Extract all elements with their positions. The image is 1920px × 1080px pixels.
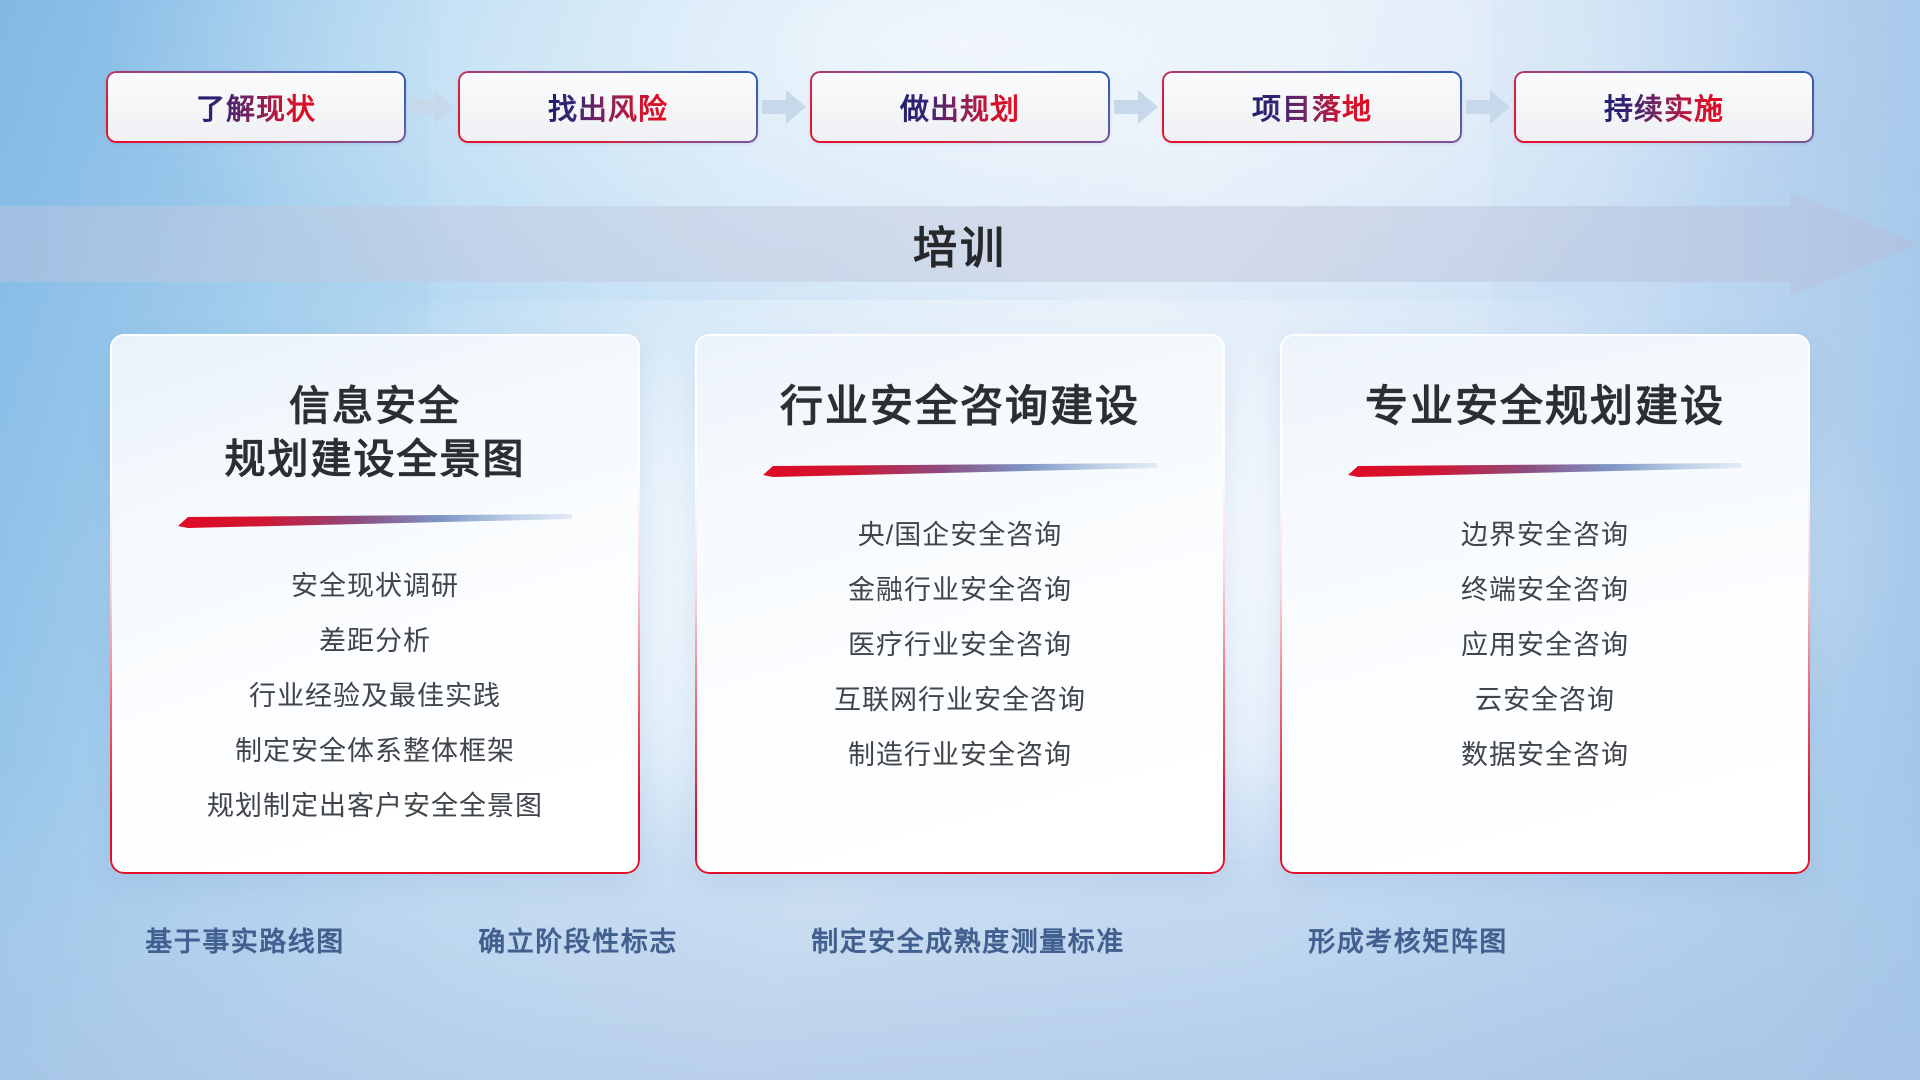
card-row: 信息安全 规划建设全景图 xyxy=(110,334,1810,874)
arrow-right-icon xyxy=(758,71,810,143)
card-overview[interactable]: 信息安全 规划建设全景图 xyxy=(110,334,640,874)
list-item: 互联网行业安全咨询 xyxy=(715,687,1205,714)
list-item: 央/国企安全咨询 xyxy=(715,522,1205,549)
card-item-list: 央/国企安全咨询 金融行业安全咨询 医疗行业安全咨询 互联网行业安全咨询 制造行… xyxy=(695,522,1225,874)
card-industry-consulting[interactable]: 行业安全咨询建设 xyxy=(695,334,1225,874)
process-step-row: 了解现状 找出风险 做出规划 项目落地 持续实施 xyxy=(0,68,1920,146)
list-item: 差距分析 xyxy=(130,628,620,655)
list-item: 行业经验及最佳实践 xyxy=(130,683,620,710)
card-item-list: 安全现状调研 差距分析 行业经验及最佳实践 制定安全体系整体框架 规划制定出客户… xyxy=(110,573,640,874)
list-item: 边界安全咨询 xyxy=(1300,522,1790,549)
list-item: 终端安全咨询 xyxy=(1300,577,1790,604)
arrow-right-icon xyxy=(1110,71,1162,143)
list-item: 云安全咨询 xyxy=(1300,687,1790,714)
step-button-1[interactable]: 了解现状 xyxy=(106,71,406,143)
banner-label-wrap: 培训 xyxy=(0,192,1920,296)
card-professional-planning[interactable]: 专业安全规划建设 xyxy=(1280,334,1810,874)
step-label: 了解现状 xyxy=(196,86,316,128)
step-button-3[interactable]: 做出规划 xyxy=(810,71,1110,143)
step-button-5[interactable]: 持续实施 xyxy=(1514,71,1814,143)
card-title: 行业安全咨询建设 xyxy=(725,380,1195,436)
list-item: 制造行业安全咨询 xyxy=(715,742,1205,769)
list-item: 数据安全咨询 xyxy=(1300,742,1790,769)
card-title: 专业安全规划建设 xyxy=(1310,380,1780,436)
caption-maturity-standard: 制定安全成熟度测量标准 xyxy=(811,920,1125,959)
list-item: 金融行业安全咨询 xyxy=(715,577,1205,604)
card-divider xyxy=(178,513,572,529)
card-divider xyxy=(763,462,1157,478)
card-item-list: 边界安全咨询 终端安全咨询 应用安全咨询 云安全咨询 数据安全咨询 xyxy=(1280,522,1810,874)
caption-assessment-matrix: 形成考核矩阵图 xyxy=(1308,920,1508,959)
card-title: 信息安全 规划建设全景图 xyxy=(140,380,610,487)
list-item: 医疗行业安全咨询 xyxy=(715,632,1205,659)
list-item: 规划制定出客户安全全景图 xyxy=(130,793,620,820)
step-label: 做出规划 xyxy=(900,86,1020,128)
step-label: 找出风险 xyxy=(548,86,668,128)
step-label: 项目落地 xyxy=(1252,86,1372,128)
step-button-2[interactable]: 找出风险 xyxy=(458,71,758,143)
step-label: 持续实施 xyxy=(1604,86,1724,128)
list-item: 应用安全咨询 xyxy=(1300,632,1790,659)
banner-label: 培训 xyxy=(913,212,1007,276)
step-button-4[interactable]: 项目落地 xyxy=(1162,71,1462,143)
card-divider xyxy=(1348,462,1742,478)
caption-roadmap: 基于事实路线图 xyxy=(145,920,345,959)
arrow-right-icon xyxy=(1462,71,1514,143)
arrow-right-icon xyxy=(406,71,458,143)
caption-milestones: 确立阶段性标志 xyxy=(478,920,678,959)
list-item: 安全现状调研 xyxy=(130,573,620,600)
list-item: 制定安全体系整体框架 xyxy=(130,738,620,765)
caption-row: 基于事实路线图 确立阶段性标志 制定安全成熟度测量标准 形成考核矩阵图 xyxy=(0,920,1920,970)
